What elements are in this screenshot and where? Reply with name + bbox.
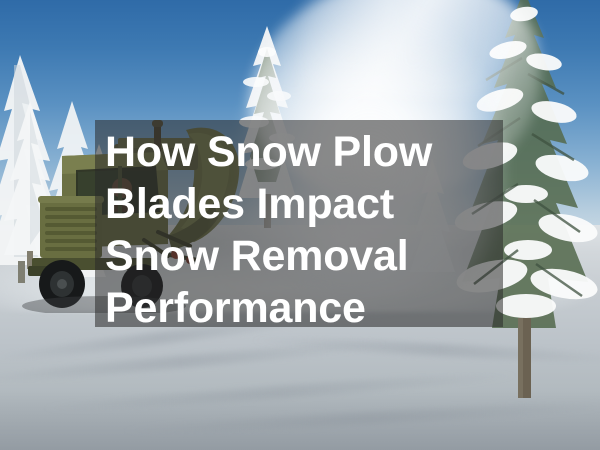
page-title: How Snow Plow Blades Impact Snow Removal… [105, 126, 505, 334]
hero-image-container: How Snow Plow Blades Impact Snow Removal… [0, 0, 600, 450]
